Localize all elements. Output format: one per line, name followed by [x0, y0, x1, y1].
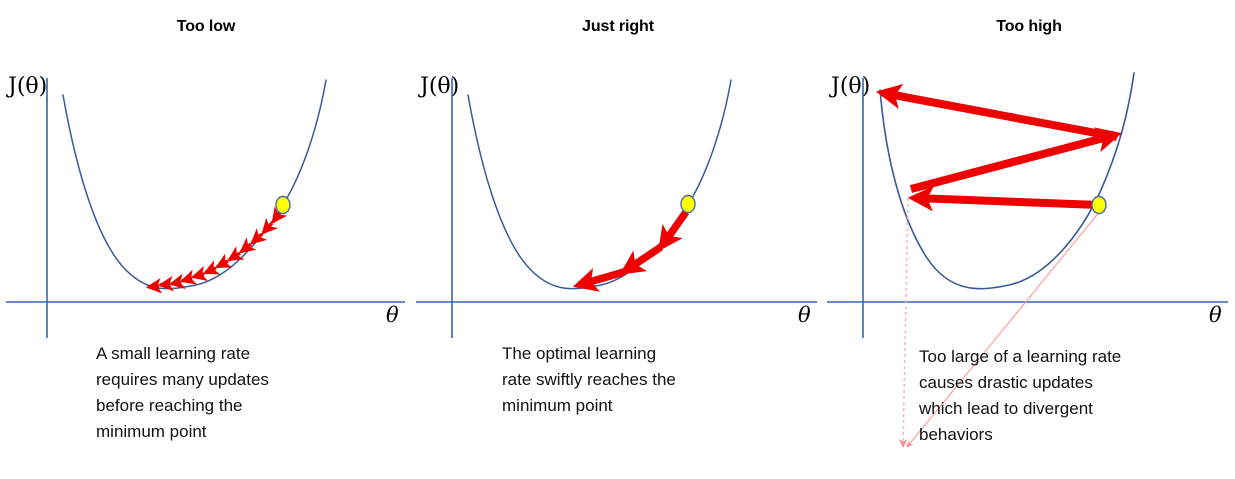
cost-curve: [880, 73, 1134, 289]
panel-just-right: Just right J(θ) θ The optimal learning r…: [412, 0, 824, 479]
start-point-marker: [1092, 197, 1106, 214]
panel-too-low: Too low J(θ) θ: [0, 0, 412, 479]
panel-caption: The optimal learning rate swiftly reache…: [502, 341, 752, 419]
panel-too-high: Too high J(θ) θ: [823, 0, 1235, 479]
cost-curve: [468, 80, 731, 289]
descent-step-arrows: [579, 212, 686, 285]
divergent-step-arrows: [883, 93, 1117, 205]
minimum-pointer-dashed: [903, 198, 908, 447]
panel-caption: A small learning rate requires many upda…: [96, 341, 346, 445]
figure-canvas: Too low J(θ) θ: [0, 0, 1235, 479]
start-point-marker: [681, 196, 695, 213]
panel-caption: Too large of a learning rate causes dras…: [919, 344, 1189, 448]
cost-curve: [63, 80, 326, 289]
descent-step-arrows: [148, 211, 281, 287]
start-point-marker: [276, 197, 290, 214]
